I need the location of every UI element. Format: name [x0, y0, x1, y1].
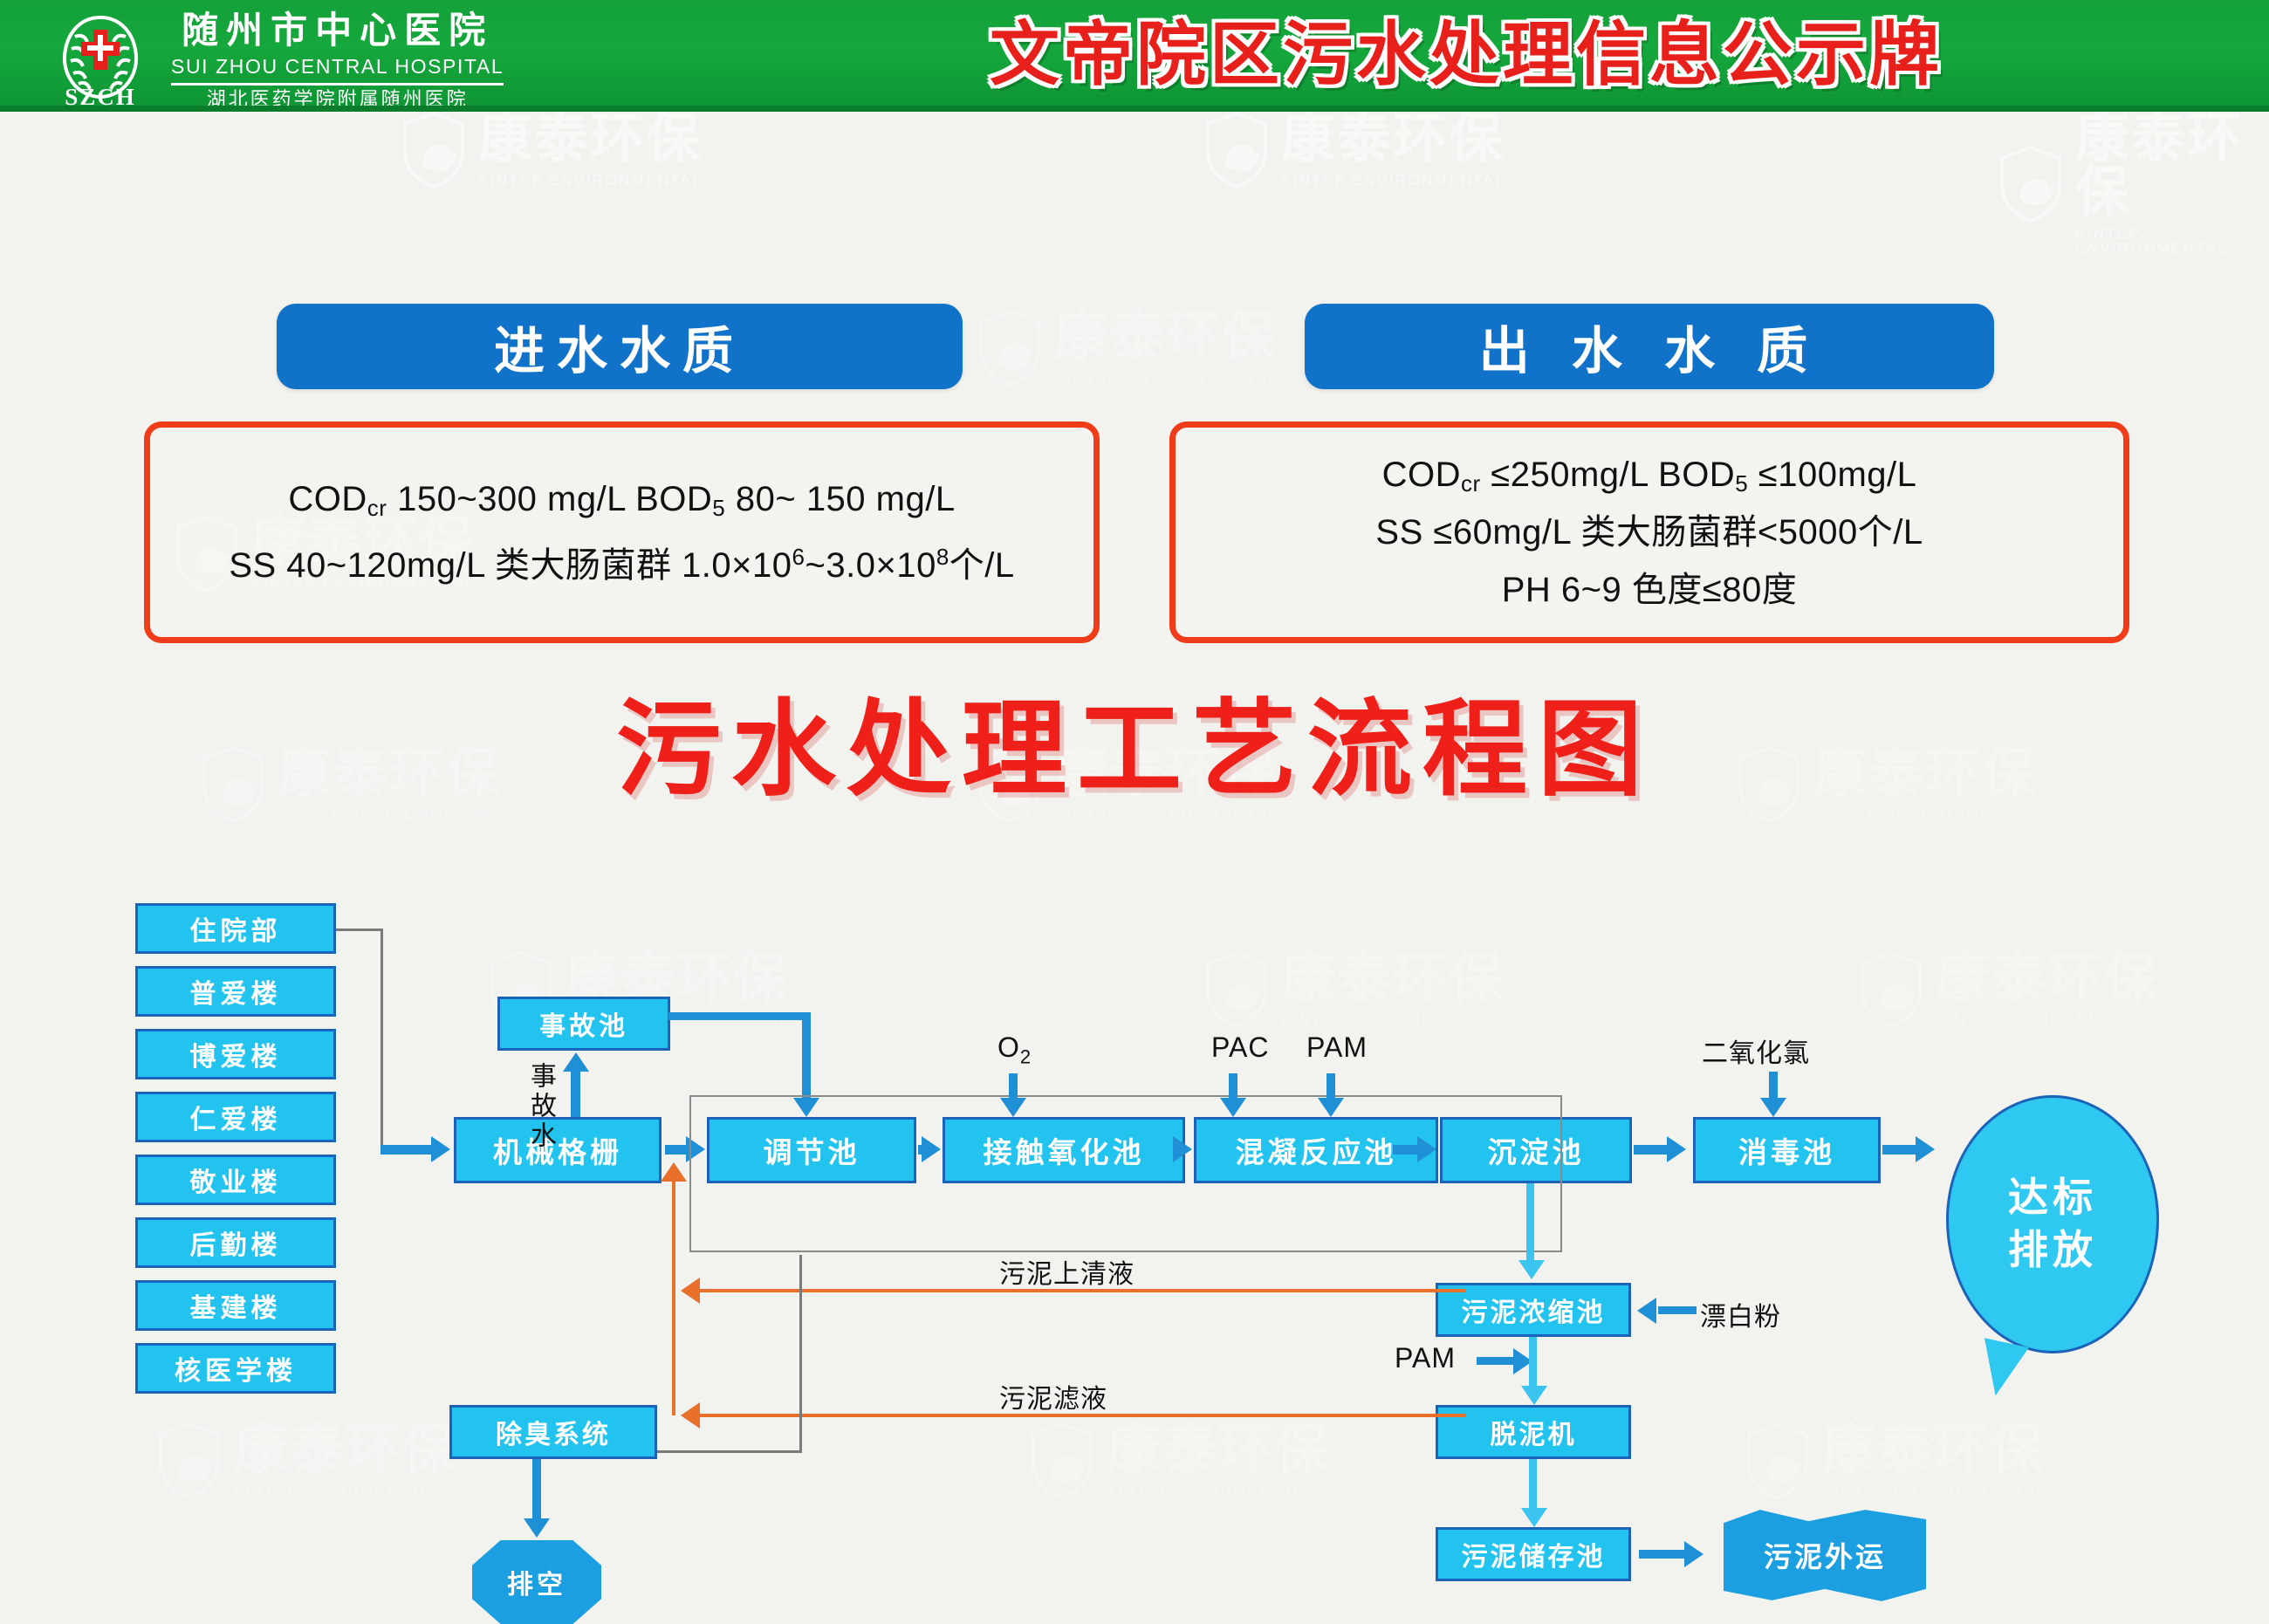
watermark-cn: 康泰环保 — [2075, 112, 2269, 220]
flow-node-label: 排空 — [507, 1563, 566, 1601]
discharge-line-2: 排放 — [2008, 1224, 2097, 1277]
influent-cod-sub: cr — [367, 495, 387, 521]
arrow-storage — [1521, 1508, 1547, 1527]
watermark-en: KINTEP ENVIRONMENTAL — [1813, 807, 2038, 822]
hospital-name-en: SUI ZHOU CENTRAL HOSPITAL — [171, 57, 504, 77]
watermark-cn: 康泰环保 — [1281, 113, 1505, 167]
influent-cod-label: COD — [288, 480, 367, 518]
watermark-en: KINTEP ENVIRONMENTAL — [1281, 173, 1505, 188]
rhino-shield-icon — [401, 112, 466, 188]
flow-node-label: 事故池 — [539, 1004, 628, 1043]
arrow-thickener — [1518, 1260, 1545, 1279]
effluent-line-3: PH 6~9 色度≤80度 — [1502, 572, 1798, 607]
influent-banner: 进水水质 — [277, 304, 963, 389]
arrow-discharge — [1916, 1136, 1935, 1162]
influent-values-box: CODcr 150~300 mg/L BOD5 80~ 150 mg/L SS … — [144, 421, 1100, 643]
influent-coli-exp2: 8 — [936, 544, 949, 570]
flow-node-label: 污泥外运 — [1764, 1535, 1886, 1575]
flow-node-building[interactable]: 博爱楼 — [135, 1029, 336, 1079]
arrow-disinfection — [1667, 1136, 1686, 1162]
flow-node-building[interactable]: 核医学楼 — [135, 1343, 336, 1394]
watermark-en: KINTEP ENVIRONMENTAL — [278, 807, 502, 822]
arrow-dose-bleach — [1637, 1298, 1656, 1324]
flow-node-label: 消毒池 — [1738, 1129, 1835, 1171]
arrow-dose-o2 — [1000, 1098, 1026, 1117]
arrow-supernatant — [681, 1278, 700, 1304]
link-thickener-to-dewaterer — [1529, 1337, 1537, 1389]
collector-line-top — [336, 928, 383, 931]
flowchart-title: 污水处理工艺流程图 — [0, 694, 2269, 807]
influent-ss-value: SS 40~120mg/L 类大肠菌群 1.0 — [229, 546, 731, 585]
dosing-line-clo2 — [1769, 1072, 1778, 1101]
influent-cod-value: 150~300 mg/L BOD — [387, 480, 712, 518]
accident-water-label: 事故水 — [521, 1062, 559, 1151]
link-sedimentation-to-disinfection — [1634, 1145, 1669, 1155]
filtrate-label: 污泥滤液 — [999, 1377, 1107, 1415]
flow-node-label: 污泥储存池 — [1462, 1535, 1606, 1573]
link-grille-to-equalization — [665, 1145, 688, 1155]
effluent-values-box: CODcr ≤250mg/L BOD5 ≤100mg/L SS ≤60mg/L … — [1169, 421, 2129, 643]
flow-node-building[interactable]: 仁爱楼 — [135, 1092, 336, 1142]
flow-node-discharge[interactable]: 达标 排放 — [1946, 1095, 2159, 1353]
influent-coli-b: ~3.0×10 — [805, 546, 936, 585]
influent-bod-value: 80~ 150 mg/L — [725, 480, 955, 518]
flow-node-building[interactable]: 敬业楼 — [135, 1155, 336, 1205]
flow-node-label: 后勤楼 — [190, 1223, 282, 1262]
hospital-logo: SZCH 随州市中心医院 SUI ZHOU CENTRAL HOSPITAL 湖… — [45, 9, 504, 110]
hospital-abbr: SZCH — [45, 84, 155, 111]
flow-node-vent[interactable]: 排空 — [472, 1540, 601, 1624]
hospital-crest-icon: SZCH — [45, 10, 155, 108]
arrow-dewaterer — [1521, 1386, 1547, 1405]
supernatant-label: 污泥上清液 — [999, 1252, 1134, 1291]
flow-node-deodorization[interactable]: 除臭系统 — [449, 1405, 657, 1459]
watermark-en: KINTEP ENVIRONMENTAL — [478, 173, 703, 188]
o2-label: O — [997, 1031, 1020, 1063]
dosing-label-pam2: PAM — [1395, 1342, 1456, 1374]
page-title: 文帝院区污水处理信息公示牌 — [698, 7, 2234, 103]
board-header: SZCH 随州市中心医院 SUI ZHOU CENTRAL HOSPITAL 湖… — [0, 0, 2269, 112]
collector-line-vertical — [380, 928, 383, 1147]
flow-node-disinfection-tank[interactable]: 消毒池 — [1693, 1117, 1881, 1183]
watermark-en: KINTEP ENVIRONMENTAL — [2075, 226, 2269, 256]
process-flowchart: 住院部 普爱楼 博爱楼 仁爱楼 敬业楼 后勤楼 基建楼 核医学楼 机械格栅 调节… — [0, 881, 2269, 1595]
influent-column: 进水水质 CODcr 150~300 mg/L BOD5 80~ 150 mg/… — [144, 304, 1100, 643]
influent-bod-sub: 5 — [712, 495, 725, 521]
effluent-cod-label: COD — [1382, 456, 1461, 494]
dosing-line-bleach — [1658, 1306, 1697, 1314]
flow-node-accident-tank[interactable]: 事故池 — [497, 997, 670, 1051]
influent-coli-a: ×10 — [731, 546, 792, 585]
watermark: 康泰环保 KINTEP ENVIRONMENTAL — [1998, 112, 2269, 256]
logo-divider — [171, 83, 504, 86]
flow-node-label: 基建楼 — [190, 1286, 282, 1325]
watermark: 康泰环保 KINTEP ENVIRONMENTAL — [1204, 112, 1505, 188]
o2-sub: 2 — [1020, 1045, 1032, 1067]
effluent-line-1: CODcr ≤250mg/L BOD5 ≤100mg/L — [1382, 457, 1917, 492]
influent-line-2: SS 40~120mg/L 类大肠菌群 1.0×106~3.0×108个/L — [229, 548, 1014, 583]
arrow-return-to-inlet — [661, 1162, 687, 1182]
flow-node-building[interactable]: 基建楼 — [135, 1280, 336, 1331]
flow-node-label: 博爱楼 — [190, 1035, 282, 1073]
effluent-banner: 出 水 水 质 — [1305, 304, 1994, 389]
arrow-dose-clo2 — [1760, 1098, 1786, 1117]
flow-node-label: 除臭系统 — [496, 1413, 611, 1451]
arrow-dose-pam — [1318, 1098, 1344, 1117]
link-dewaterer-to-storage — [1529, 1459, 1537, 1511]
arrow-vent — [524, 1518, 550, 1538]
arrow-to-grille — [431, 1136, 450, 1162]
balloon-tail — [1973, 1338, 2029, 1400]
dosing-label-o2: O2 — [997, 1031, 1032, 1068]
flow-node-label: 核医学楼 — [175, 1349, 297, 1388]
influent-coli-unit: 个/L — [949, 546, 1015, 585]
dosing-label-clo2: 二氧化氯 — [1702, 1031, 1810, 1070]
accident-return-down — [802, 1012, 811, 1101]
effluent-bod-value: ≤100mg/L — [1748, 456, 1916, 494]
flow-node-label: 敬业楼 — [190, 1161, 282, 1199]
flow-node-sludge-transport[interactable]: 污泥外运 — [1724, 1508, 1926, 1602]
accident-water-riser — [571, 1072, 580, 1117]
arrow-filtrate — [681, 1402, 700, 1429]
effluent-bod-sub: 5 — [1735, 470, 1748, 497]
return-riser — [672, 1178, 675, 1415]
dosing-label-pam: PAM — [1306, 1031, 1368, 1064]
effluent-cod-sub: cr — [1461, 470, 1481, 497]
influent-coli-exp1: 6 — [792, 544, 805, 570]
arrow-accident-tank — [563, 1052, 589, 1072]
accident-return-top — [668, 1012, 810, 1020]
watermark-cn: 康泰环保 — [478, 113, 703, 167]
flow-node-sludge-storage[interactable]: 污泥储存池 — [1436, 1527, 1631, 1581]
collector-to-grille-line — [380, 1145, 433, 1155]
flow-node-building[interactable]: 后勤楼 — [135, 1217, 336, 1268]
water-quality-section: 进水水质 CODcr 150~300 mg/L BOD5 80~ 150 mg/… — [0, 304, 2269, 670]
dosing-label-pac: PAC — [1211, 1031, 1269, 1064]
treatment-train-outline — [689, 1095, 1562, 1252]
flow-node-label: 住院部 — [190, 909, 282, 948]
flow-node-label: 污泥浓缩池 — [1462, 1291, 1606, 1329]
deodor-duct-v — [799, 1255, 802, 1452]
flow-node-building[interactable]: 住院部 — [135, 903, 336, 954]
link-deodor-to-vent — [532, 1459, 541, 1522]
hospital-name-cn: 随州市中心医院 — [182, 12, 493, 49]
link-disinfection-to-discharge — [1882, 1145, 1917, 1155]
flow-node-building[interactable]: 普爱楼 — [135, 966, 336, 1017]
flow-node-label: 脱泥机 — [1491, 1413, 1577, 1451]
hospital-affiliate: 湖北医药学院附属随州医院 — [207, 91, 469, 110]
effluent-line-2: SS ≤60mg/L 类大肠菌群<5000个/L — [1375, 515, 1923, 550]
deodor-duct-h — [657, 1450, 802, 1453]
flow-node-label: 普爱楼 — [190, 972, 282, 1011]
discharge-line-1: 达标 — [2008, 1172, 2097, 1224]
arrow-sludge-out — [1684, 1541, 1703, 1567]
flow-node-label: 仁爱楼 — [190, 1098, 282, 1136]
rhino-shield-icon — [1204, 112, 1269, 188]
effluent-column: 出 水 水 质 CODcr ≤250mg/L BOD5 ≤100mg/L SS … — [1169, 304, 2129, 643]
watermark: 康泰环保 KINTEP ENVIRONMENTAL — [401, 112, 703, 188]
dosing-label-bleach: 漂白粉 — [1700, 1295, 1781, 1333]
link-storage-to-out — [1639, 1550, 1686, 1559]
effluent-cod-value: ≤250mg/L BOD — [1481, 456, 1736, 494]
arrow-dose-pac — [1220, 1098, 1246, 1117]
influent-line-1: CODcr 150~300 mg/L BOD5 80~ 150 mg/L — [288, 482, 955, 517]
dosing-line-pam2 — [1477, 1357, 1515, 1365]
link-sedimentation-to-thickener — [1526, 1183, 1534, 1264]
rhino-shield-icon — [1998, 146, 2063, 223]
